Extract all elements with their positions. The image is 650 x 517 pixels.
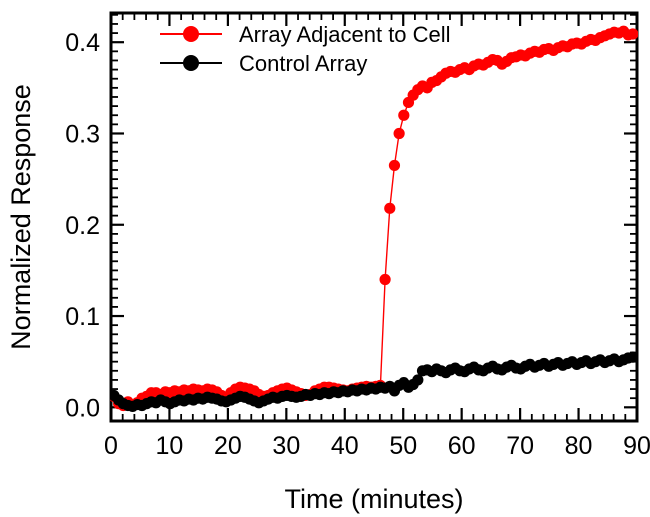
x-tick-label: 20 <box>214 432 242 460</box>
x-tick-label: 40 <box>331 432 359 460</box>
legend-entry-control-array[interactable]: Control Array <box>160 51 367 76</box>
y-tick-label: 0.2 <box>65 212 100 240</box>
x-tick-label: 80 <box>565 432 593 460</box>
x-tick-label: 90 <box>623 432 650 460</box>
legend-marker <box>183 55 199 71</box>
x-tick-label: 60 <box>448 432 476 460</box>
x-tick-label: 70 <box>506 432 534 460</box>
legend-label: Control Array <box>239 51 367 76</box>
data-point <box>389 160 400 171</box>
data-point <box>398 110 409 121</box>
series-array-adjacent-to-cell <box>108 26 638 411</box>
data-point <box>627 352 638 363</box>
legend-label: Array Adjacent to Cell <box>239 22 451 47</box>
x-tick-label: 0 <box>104 432 118 460</box>
y-tick-label: 0.4 <box>65 29 100 57</box>
data-point <box>627 28 638 39</box>
x-tick-label: 10 <box>156 432 184 460</box>
data-point <box>394 128 405 139</box>
chart-figure: 01020304050607080900.00.10.20.30.4Time (… <box>0 0 650 517</box>
data-point <box>380 274 391 285</box>
x-tick-label: 50 <box>389 432 417 460</box>
y-tick-label: 0.0 <box>65 394 100 422</box>
y-tick-label: 0.3 <box>65 120 100 148</box>
y-tick-label: 0.1 <box>65 303 100 331</box>
x-axis-title: Time (minutes) <box>284 484 463 514</box>
normalized-response-plot: 01020304050607080900.00.10.20.30.4Time (… <box>0 0 650 517</box>
legend-marker <box>183 26 199 42</box>
x-tick-label: 30 <box>272 432 300 460</box>
y-axis-title: Normalized Response <box>6 84 36 350</box>
series-line <box>114 31 633 405</box>
legend-entry-array-adjacent-to-cell[interactable]: Array Adjacent to Cell <box>160 22 451 47</box>
data-point <box>384 203 395 214</box>
